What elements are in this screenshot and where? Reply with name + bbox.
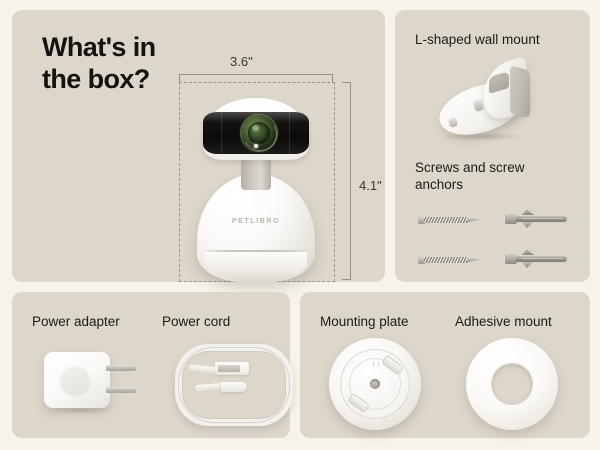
- band-seam-left: [221, 112, 222, 154]
- camera-brand-logo: PETLIBRO: [179, 218, 333, 225]
- power-panel: Power adapter Power cord: [12, 292, 290, 438]
- power-cord-label: Power cord: [162, 314, 230, 331]
- anchor-fin-upper: [522, 209, 534, 215]
- mount-panel: Mounting plate Adhesive mount: [300, 292, 590, 438]
- anchor-1: [505, 213, 567, 225]
- dimension-height-label: 4.1": [359, 178, 382, 193]
- anchor-fin-lower: [522, 222, 534, 228]
- power-adapter-image: [44, 348, 136, 412]
- camera-neck: [241, 156, 271, 190]
- adapter-prong-top: [106, 365, 136, 371]
- mounting-plate-label: Mounting plate: [320, 314, 409, 331]
- dimension-width-bracket: [179, 74, 333, 75]
- adhesive-mount-image: [466, 338, 558, 430]
- screws-anchors-label: Screws and screw anchors: [415, 160, 567, 194]
- anchor-fin-upper: [522, 249, 534, 255]
- camera-product-image: PETLIBRO: [179, 82, 333, 282]
- adhesive-center-hole: [492, 364, 532, 404]
- screw-shaft: [424, 217, 468, 223]
- screw-shaft: [424, 257, 468, 263]
- plate-center-hole: [370, 379, 380, 389]
- adapter-emboss-circle: [60, 365, 90, 395]
- dimension-width-label: 3.6": [230, 54, 253, 69]
- power-adapter-label: Power adapter: [32, 314, 120, 331]
- infographic-page: What's in the box? 3.6" 4.1" PETLIBRO: [0, 0, 600, 450]
- power-cord-image: [175, 344, 279, 412]
- camera-base-seam: [201, 250, 311, 252]
- lens-glint: [252, 125, 259, 131]
- screw-tip: [467, 217, 480, 223]
- screw-1: [418, 215, 480, 224]
- hero-panel: What's in the box? 3.6" 4.1" PETLIBRO: [12, 10, 385, 282]
- camera-lens: [241, 115, 277, 151]
- anchor-fin-lower: [522, 262, 534, 268]
- anchor-body: [516, 256, 567, 262]
- adapter-prong-bottom: [106, 387, 136, 393]
- plate-alignment-mark: [373, 362, 379, 367]
- accessories-panel: L-shaped wall mount Screws and screw anc…: [395, 10, 590, 282]
- anchor-2: [505, 253, 567, 265]
- wall-mount-label: L-shaped wall mount: [415, 32, 580, 49]
- l-shaped-wall-mount-image: [432, 56, 558, 144]
- page-title: What's in the box?: [42, 32, 156, 96]
- band-seam-right: [289, 112, 290, 154]
- dimension-height-bracket: [350, 82, 351, 280]
- usb-c-connector: [221, 382, 247, 392]
- lens-iris: [248, 122, 270, 144]
- camera-led-indicator: [254, 144, 258, 148]
- mounting-plate-image: [329, 338, 421, 430]
- wall-mount-back-plate: [510, 66, 530, 119]
- usb-a-connector: [215, 362, 249, 375]
- screw-2: [418, 255, 480, 264]
- screw-tip: [467, 257, 480, 263]
- anchor-body: [516, 216, 567, 222]
- adhesive-mount-label: Adhesive mount: [455, 314, 552, 331]
